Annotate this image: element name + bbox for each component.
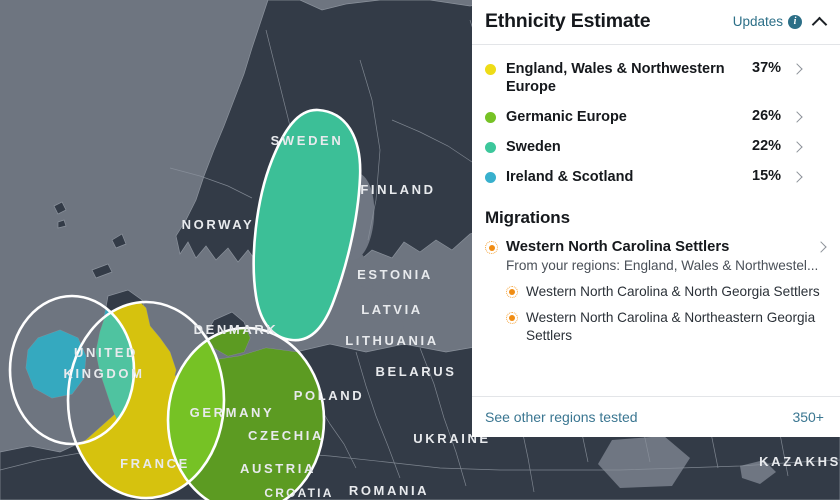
ethnicity-percent: 26%	[752, 108, 781, 124]
map-label-estonia: ESTONIA	[357, 267, 433, 282]
map-label-kingdom: KINGDOM	[63, 366, 144, 381]
ethnicity-row-ireland-scotland[interactable]: Ireland & Scotland 15%	[472, 162, 840, 192]
chevron-right-icon[interactable]	[817, 243, 826, 252]
map-label-kazakhstan: KAZAKHS	[759, 454, 840, 469]
map-label-lithuania: LITHUANIA	[345, 333, 438, 348]
ethnicity-row-germanic-europe[interactable]: Germanic Europe 26%	[472, 102, 840, 132]
migration-sunburst-icon	[485, 241, 498, 254]
migration-subrow-north-georgia-settlers[interactable]: Western North Carolina & North Georgia S…	[472, 275, 840, 301]
panel-footer: See other regions tested 350+	[472, 396, 840, 437]
ethnicity-label: Sweden	[506, 138, 752, 156]
ethnicity-percent: 37%	[752, 60, 781, 76]
page-title: Ethnicity Estimate	[485, 10, 733, 33]
ethnicity-label: England, Wales & Northwestern Europe	[506, 60, 752, 96]
ethnicity-color-dot	[485, 64, 496, 75]
ethnicity-row-england-wales-northwestern-europe[interactable]: England, Wales & Northwestern Europe 37%	[472, 54, 840, 102]
map-label-poland: POLAND	[294, 388, 365, 403]
map-label-norway: NORWAY	[182, 217, 255, 232]
map-label-latvia: LATVIA	[361, 302, 423, 317]
ethnicity-color-dot	[485, 142, 496, 153]
chevron-right-icon[interactable]	[793, 143, 802, 152]
ethnicity-list: England, Wales & Northwestern Europe 37%…	[472, 45, 840, 196]
migrations-heading: Migrations	[472, 196, 840, 234]
map-label-finland: FINLAND	[360, 182, 435, 197]
migration-row-western-north-carolina-settlers[interactable]: Western North Carolina Settlers	[472, 234, 840, 256]
ethnicity-label: Germanic Europe	[506, 108, 752, 126]
chevron-up-icon[interactable]	[813, 15, 826, 28]
ethnicity-color-dot	[485, 172, 496, 183]
map-label-france: FRANCE	[120, 456, 190, 471]
map-label-united: UNITED	[74, 345, 138, 360]
ethnicity-estimate-panel: Ethnicity Estimate Updates i England, Wa…	[472, 0, 840, 437]
migration-sublabel: Western North Carolina & North Georgia S…	[526, 283, 824, 301]
map-label-belarus: BELARUS	[375, 364, 456, 379]
migration-subrow-northeastern-georgia-settlers[interactable]: Western North Carolina & Northeastern Ge…	[472, 301, 840, 345]
ethnicity-percent: 15%	[752, 168, 781, 184]
panel-body: England, Wales & Northwestern Europe 37%…	[472, 45, 840, 396]
updates-link[interactable]: Updates	[733, 14, 783, 29]
ethnicity-color-dot	[485, 112, 496, 123]
ethnicity-label: Ireland & Scotland	[506, 168, 752, 186]
chevron-right-icon[interactable]	[793, 173, 802, 182]
chevron-right-icon[interactable]	[793, 65, 802, 74]
migration-source-regions: From your regions: England, Wales & Nort…	[472, 256, 840, 275]
info-icon[interactable]: i	[788, 15, 802, 29]
ethnicity-percent: 22%	[752, 138, 781, 154]
map-label-germany: GERMANY	[190, 405, 275, 420]
migration-sublabel: Western North Carolina & Northeastern Ge…	[526, 309, 824, 345]
migration-label: Western North Carolina Settlers	[506, 238, 817, 256]
panel-header: Ethnicity Estimate Updates i	[472, 0, 840, 45]
migration-sunburst-icon	[506, 286, 518, 298]
map-label-denmark: DENMARK	[194, 322, 279, 337]
ethnicity-row-sweden[interactable]: Sweden 22%	[472, 132, 840, 162]
ancestry-ethnicity-screen: SWEDEN NORWAY FINLAND ESTONIA LATVIA LIT…	[0, 0, 840, 500]
other-regions-count: 350+	[792, 409, 824, 425]
migration-sunburst-icon	[506, 312, 518, 324]
map-label-romania: ROMANIA	[349, 483, 429, 498]
map-label-czechia: CZECHIA	[248, 428, 324, 443]
map-label-sweden: SWEDEN	[271, 133, 344, 148]
map-label-croatia: CROATIA	[264, 486, 333, 500]
see-other-regions-link[interactable]: See other regions tested	[485, 409, 792, 425]
chevron-right-icon[interactable]	[793, 113, 802, 122]
map-label-austria: AUSTRIA	[240, 461, 316, 476]
